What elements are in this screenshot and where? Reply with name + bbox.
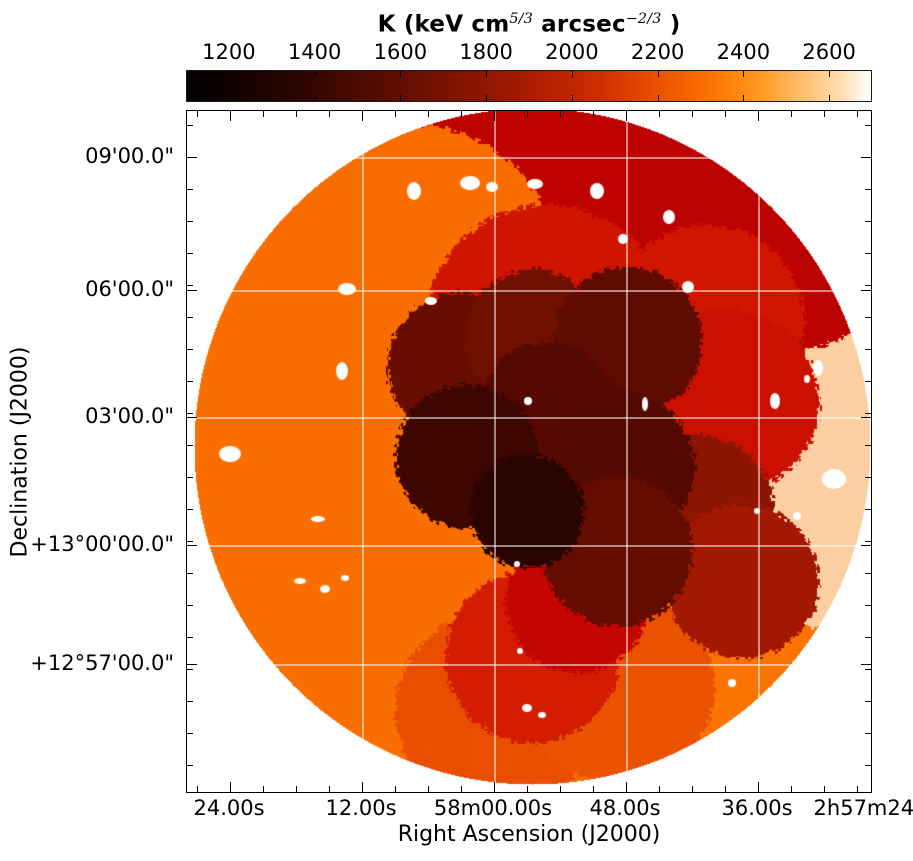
- major-tick: [861, 417, 871, 418]
- minor-tick: [263, 786, 264, 792]
- colorbar-title-exponent-2: −2/3: [626, 11, 662, 27]
- x-axis-label: Right Ascension (J2000): [186, 822, 872, 847]
- colorbar-gradient: [187, 71, 871, 101]
- minor-tick: [187, 317, 193, 318]
- minor-tick: [461, 786, 462, 792]
- minor-tick: [865, 669, 871, 670]
- colorbar-title: K (keV cm5/3 arcsec−2/3 ): [186, 2, 872, 36]
- y-tick-label: 09'00.0": [85, 145, 174, 167]
- minor-tick: [187, 733, 193, 734]
- minor-tick: [395, 786, 396, 792]
- minor-tick: [197, 786, 198, 792]
- minor-tick: [857, 786, 858, 792]
- minor-tick: [824, 786, 825, 792]
- minor-tick: [187, 477, 193, 478]
- colorbar-tick-mark: [486, 71, 487, 77]
- colorbar-tick-label: 2000: [545, 39, 598, 65]
- x-tick-label: 2h57m24.00s: [814, 795, 913, 821]
- major-tick: [362, 111, 363, 121]
- minor-tick: [593, 111, 594, 117]
- minor-tick: [791, 786, 792, 792]
- colorbar-tick-label: 1200: [202, 39, 255, 65]
- major-tick: [861, 545, 871, 546]
- minor-tick: [692, 111, 693, 117]
- colorbar-title-end: ): [661, 12, 680, 38]
- minor-tick: [187, 605, 193, 606]
- major-tick: [230, 111, 231, 121]
- x-tick-label: 12.00s: [325, 795, 396, 821]
- minor-tick: [725, 111, 726, 117]
- minor-tick: [187, 701, 193, 702]
- major-tick: [230, 782, 231, 792]
- minor-tick: [187, 445, 193, 446]
- colorbar-tick-mark: [658, 95, 659, 101]
- minor-tick: [329, 786, 330, 792]
- minor-tick: [296, 111, 297, 117]
- major-tick: [187, 545, 197, 546]
- colorbar-tick-mark: [829, 95, 830, 101]
- colorbar-tick-mark: [743, 71, 744, 77]
- minor-tick: [187, 125, 193, 126]
- colorbar-tick-label: 2200: [631, 39, 684, 65]
- minor-tick: [865, 509, 871, 510]
- colorbar-tick-mark: [486, 95, 487, 101]
- x-tick-label: 58m00.00s: [434, 795, 552, 821]
- minor-tick: [865, 413, 871, 414]
- minor-tick: [865, 253, 871, 254]
- major-tick: [626, 111, 627, 121]
- minor-tick: [428, 111, 429, 117]
- minor-tick: [791, 111, 792, 117]
- minor-tick: [187, 381, 193, 382]
- colorbar-tick-mark: [658, 71, 659, 77]
- minor-tick: [187, 637, 193, 638]
- minor-tick: [865, 189, 871, 190]
- entropy-map-image: [187, 111, 872, 793]
- minor-tick: [461, 111, 462, 117]
- minor-tick: [187, 573, 193, 574]
- colorbar-tick-label: 1600: [374, 39, 427, 65]
- major-tick: [758, 782, 759, 792]
- minor-tick: [865, 285, 871, 286]
- major-tick: [861, 664, 871, 665]
- minor-tick: [187, 285, 193, 286]
- minor-tick: [187, 221, 193, 222]
- minor-tick: [865, 605, 871, 606]
- minor-tick: [187, 349, 193, 350]
- minor-tick: [187, 189, 193, 190]
- x-tick-label: 48.00s: [589, 795, 660, 821]
- major-tick: [494, 111, 495, 121]
- minor-tick: [187, 669, 193, 670]
- minor-tick: [659, 111, 660, 117]
- x-tick-label: 24.00s: [193, 795, 264, 821]
- minor-tick: [428, 786, 429, 792]
- minor-tick: [187, 765, 193, 766]
- minor-tick: [187, 413, 193, 414]
- minor-tick: [527, 111, 528, 117]
- minor-tick: [865, 701, 871, 702]
- minor-tick: [725, 786, 726, 792]
- major-tick: [758, 111, 759, 121]
- major-tick: [861, 290, 871, 291]
- y-axis-tick-labels: 09'00.0"06'00.0"03'00.0"+13°00'00.0"+12°…: [0, 110, 182, 793]
- major-tick: [494, 782, 495, 792]
- y-tick-label: +12°57'00.0": [30, 652, 174, 674]
- minor-tick: [865, 477, 871, 478]
- minor-tick: [187, 253, 193, 254]
- colorbar-tick-label: 1400: [288, 39, 341, 65]
- minor-tick: [857, 111, 858, 117]
- colorbar-tick-mark: [572, 71, 573, 77]
- minor-tick: [692, 786, 693, 792]
- colorbar-tick-mark: [829, 71, 830, 77]
- major-tick: [187, 290, 197, 291]
- colorbar-tick-mark: [572, 95, 573, 101]
- major-tick: [187, 664, 197, 665]
- colorbar-tick-mark: [743, 95, 744, 101]
- minor-tick: [865, 445, 871, 446]
- minor-tick: [659, 786, 660, 792]
- major-tick: [187, 417, 197, 418]
- minor-tick: [865, 349, 871, 350]
- y-tick-label: 06'00.0": [85, 278, 174, 300]
- minor-tick: [395, 111, 396, 117]
- major-tick: [362, 782, 363, 792]
- minor-tick: [527, 786, 528, 792]
- colorbar-tick-mark: [400, 95, 401, 101]
- minor-tick: [329, 111, 330, 117]
- minor-tick: [865, 733, 871, 734]
- x-axis-tick-labels: 24.00s12.00s58m00.00s48.00s36.00s2h57m24…: [186, 795, 872, 821]
- sky-map-plot-area[interactable]: [186, 110, 872, 793]
- colorbar-tick-mark: [400, 71, 401, 77]
- minor-tick: [296, 786, 297, 792]
- minor-tick: [865, 541, 871, 542]
- colorbar-tick-label: 2400: [717, 39, 770, 65]
- major-tick: [187, 157, 197, 158]
- minor-tick: [560, 111, 561, 117]
- minor-tick: [865, 221, 871, 222]
- minor-tick: [865, 125, 871, 126]
- colorbar-title-main: K (keV cm: [378, 12, 510, 38]
- x-tick-label: 36.00s: [721, 795, 792, 821]
- minor-tick: [824, 111, 825, 117]
- colorbar-tick-label: 2600: [802, 39, 855, 65]
- minor-tick: [560, 786, 561, 792]
- major-tick: [626, 782, 627, 792]
- minor-tick: [197, 111, 198, 117]
- minor-tick: [865, 317, 871, 318]
- colorbar-tick-labels: 12001400160018002000220024002600: [186, 39, 872, 65]
- minor-tick: [187, 541, 193, 542]
- minor-tick: [865, 381, 871, 382]
- colorbar-tick-label: 1800: [459, 39, 512, 65]
- colorbar-tick-mark: [229, 71, 230, 77]
- colorbar-title-exponent-1: 5/3: [509, 11, 533, 27]
- colorbar-title-mid: arcsec: [533, 12, 626, 38]
- minor-tick: [187, 509, 193, 510]
- colorbar-tick-mark: [315, 71, 316, 77]
- y-tick-label: 03'00.0": [85, 405, 174, 427]
- minor-tick: [865, 573, 871, 574]
- major-tick: [861, 157, 871, 158]
- minor-tick: [865, 637, 871, 638]
- colorbar-strip: [186, 70, 872, 102]
- minor-tick: [865, 765, 871, 766]
- y-tick-label: +13°00'00.0": [30, 533, 174, 555]
- colorbar-tick-mark: [229, 95, 230, 101]
- colorbar-tick-mark: [315, 95, 316, 101]
- minor-tick: [263, 111, 264, 117]
- minor-tick: [593, 786, 594, 792]
